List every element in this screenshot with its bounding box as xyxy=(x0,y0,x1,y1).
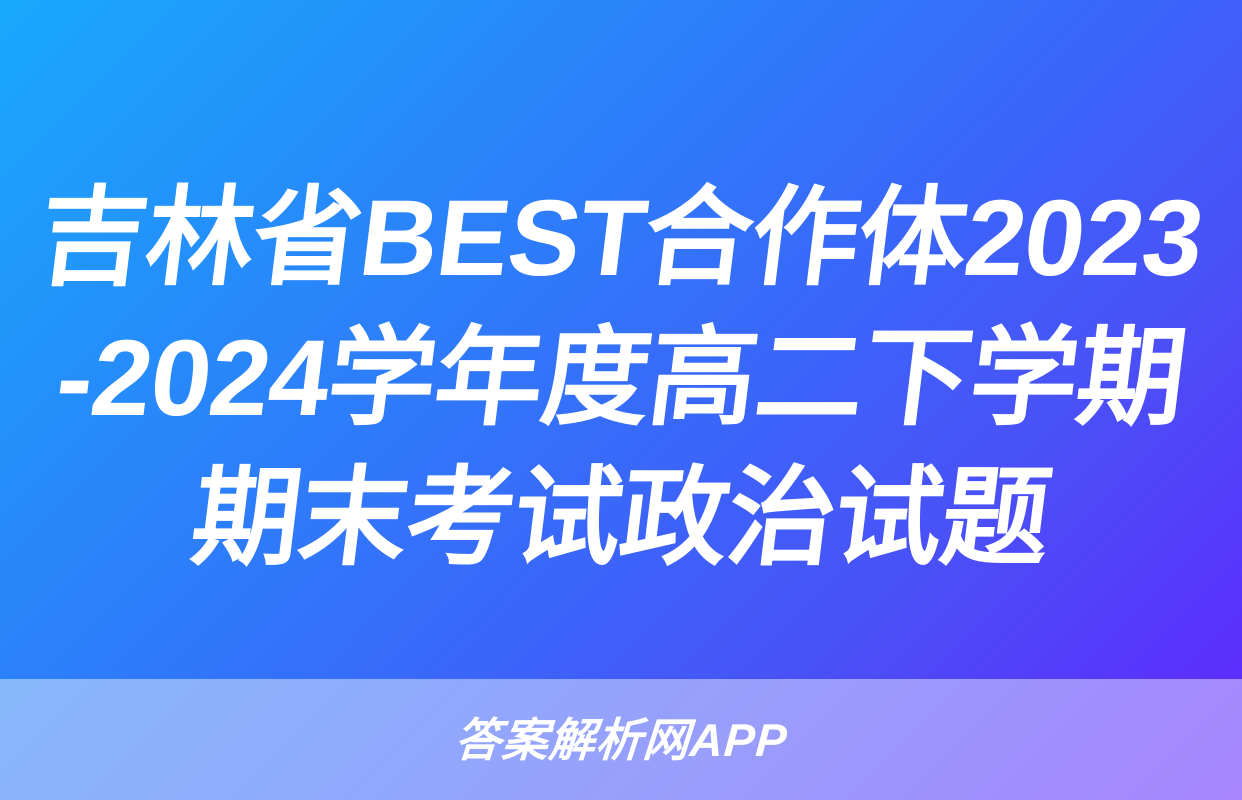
watermark-label: 答案解析网APP xyxy=(453,717,789,763)
title-line-1: 吉林省BEST合作体2023 xyxy=(15,168,1226,308)
title-line-2: -2024学年度高二下学期 xyxy=(15,308,1226,448)
page-title: 吉林省BEST合作体2023 -2024学年度高二下学期 期末考试政治试题 xyxy=(0,168,1242,588)
poster-canvas: 吉林省BEST合作体2023 -2024学年度高二下学期 期末考试政治试题 答案… xyxy=(0,0,1242,800)
title-line-3: 期末考试政治试题 xyxy=(15,448,1226,588)
watermark-band: 答案解析网APP xyxy=(0,679,1242,800)
